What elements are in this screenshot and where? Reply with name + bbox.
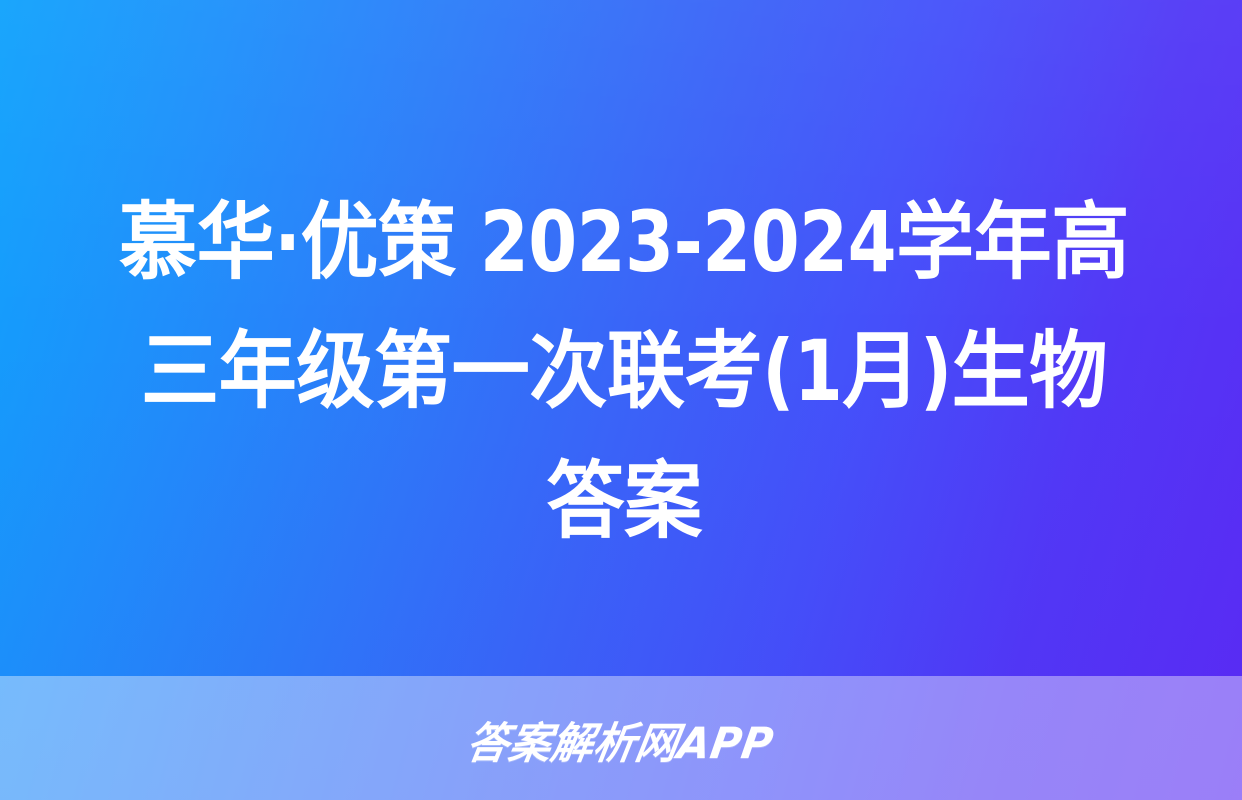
app-watermark-label: 答案解析网APP — [463, 709, 779, 771]
poster-canvas: 慕华·优策 2023-2024学年高三年级第一次联考(1月)生物答案 答案解析网… — [0, 0, 1242, 800]
page-title: 慕华·优策 2023-2024学年高三年级第一次联考(1月)生物答案 — [116, 178, 1132, 566]
footer-watermark-band: 答案解析网APP — [0, 676, 1242, 800]
poster-title-block: 慕华·优策 2023-2024学年高三年级第一次联考(1月)生物答案 — [78, 178, 1170, 566]
